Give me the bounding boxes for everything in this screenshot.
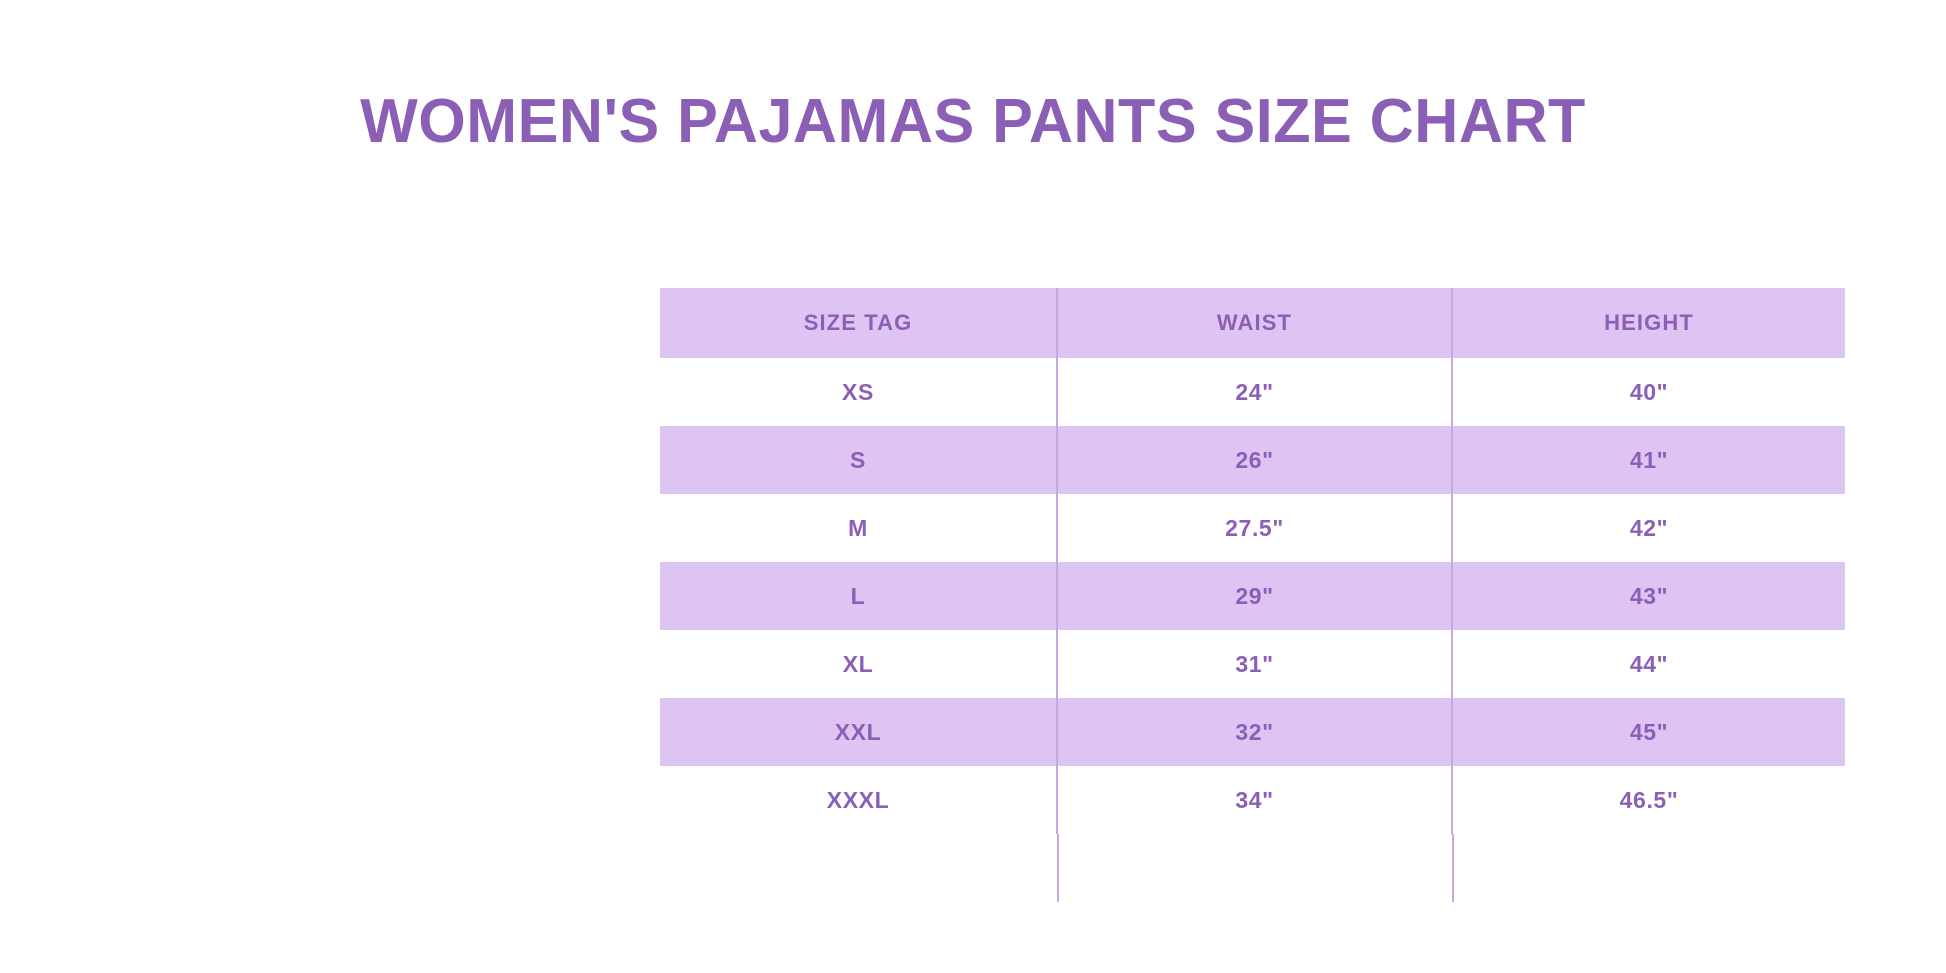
table-row: L 29" 43" <box>660 562 1845 630</box>
column-header-height: HEIGHT <box>1452 288 1845 358</box>
cell-height: 45" <box>1452 698 1845 766</box>
table-header-row: SIZE TAG WAIST HEIGHT <box>660 288 1845 358</box>
cell-waist: 26" <box>1057 426 1452 494</box>
cell-waist: 24" <box>1057 358 1452 426</box>
cell-waist: 31" <box>1057 630 1452 698</box>
cell-height: 44" <box>1452 630 1845 698</box>
column-header-waist: WAIST <box>1057 288 1452 358</box>
cell-height: 42" <box>1452 494 1845 562</box>
table-row: XL 31" 44" <box>660 630 1845 698</box>
cell-height: 46.5" <box>1452 766 1845 834</box>
cell-waist: 34" <box>1057 766 1452 834</box>
cell-waist: 27.5" <box>1057 494 1452 562</box>
cell-waist: 29" <box>1057 562 1452 630</box>
column-divider-rule-left <box>1057 834 1059 902</box>
size-chart-page: WOMEN'S PAJAMAS PANTS SIZE CHART SIZE TA… <box>0 0 1946 973</box>
cell-size-tag: M <box>660 494 1057 562</box>
size-chart-table-container: SIZE TAG WAIST HEIGHT XS 24" 40" S 26" 4… <box>660 288 1845 834</box>
table-row: XS 24" 40" <box>660 358 1845 426</box>
table-row: XXL 32" 45" <box>660 698 1845 766</box>
table-body: XS 24" 40" S 26" 41" M 27.5" 42" L 29" <box>660 358 1845 834</box>
cell-size-tag: S <box>660 426 1057 494</box>
cell-height: 43" <box>1452 562 1845 630</box>
table-row: S 26" 41" <box>660 426 1845 494</box>
column-header-size-tag: SIZE TAG <box>660 288 1057 358</box>
cell-size-tag: XXL <box>660 698 1057 766</box>
cell-size-tag: XXXL <box>660 766 1057 834</box>
page-title: WOMEN'S PAJAMAS PANTS SIZE CHART <box>15 84 1932 160</box>
cell-waist: 32" <box>1057 698 1452 766</box>
cell-size-tag: XS <box>660 358 1057 426</box>
table-row: XXXL 34" 46.5" <box>660 766 1845 834</box>
table-row: M 27.5" 42" <box>660 494 1845 562</box>
cell-height: 41" <box>1452 426 1845 494</box>
size-chart-table: SIZE TAG WAIST HEIGHT XS 24" 40" S 26" 4… <box>660 288 1845 834</box>
column-divider-rule-right <box>1452 834 1454 902</box>
cell-size-tag: XL <box>660 630 1057 698</box>
table-header: SIZE TAG WAIST HEIGHT <box>660 288 1845 358</box>
cell-size-tag: L <box>660 562 1057 630</box>
cell-height: 40" <box>1452 358 1845 426</box>
